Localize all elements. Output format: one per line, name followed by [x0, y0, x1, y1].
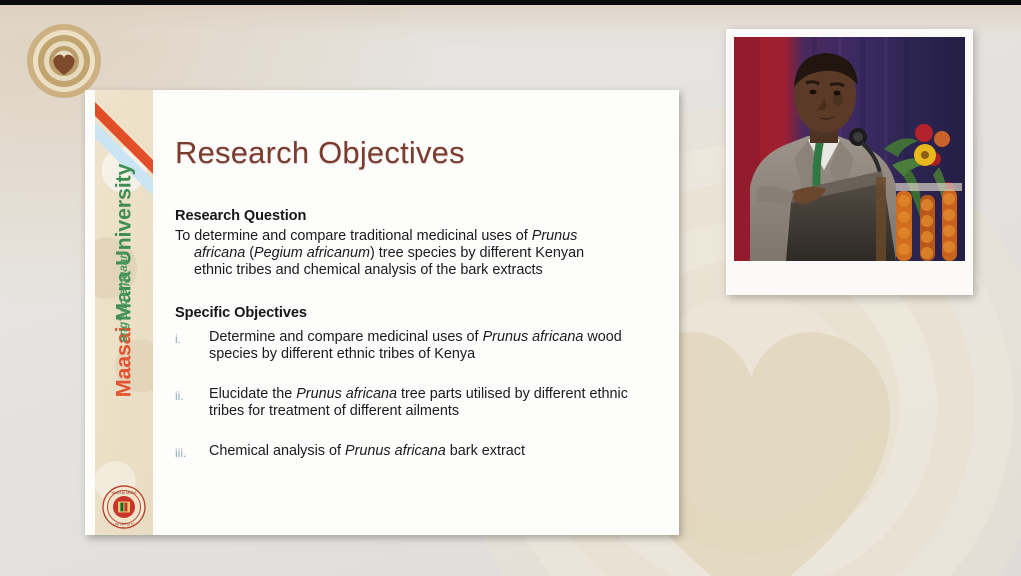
sidebar-tagline: eng'eno e puaan	[95, 90, 153, 470]
list-item-text: Elucidate the Prunus africana tree parts…	[209, 386, 645, 420]
rq-line2-italic-a: africana	[194, 245, 245, 261]
obj3-text-b: bark extract	[446, 443, 525, 459]
list-item-marker: ii.	[175, 386, 209, 420]
rq-line2-end: ) tree species by different Kenyan	[370, 245, 584, 261]
specific-objectives-block: Specific Objectives i. Determine and com…	[175, 305, 645, 483]
obj3-text-italic: Prunus africana	[345, 443, 446, 459]
obj2-text-a: Elucidate the	[209, 386, 296, 402]
slide-branding-sidebar: Maasai Mara University eng'eno e puaan M…	[95, 90, 153, 535]
rq-line2-italic-b: Pegium africanum	[254, 245, 370, 261]
objectives-list: i. Determine and compare medicinal uses …	[175, 329, 645, 460]
slide-title: Research Objectives	[175, 135, 465, 171]
university-seal-icon: MAASAI MARA UNIVERSITY	[102, 485, 146, 529]
research-question-block: Research Question To determine and compa…	[175, 208, 635, 279]
specific-objectives-heading: Specific Objectives	[175, 305, 645, 321]
sidebar-tagline-text: eng'eno e puaan	[118, 147, 130, 447]
list-item: i. Determine and compare medicinal uses …	[175, 329, 645, 363]
svg-text:MAASAI MARA: MAASAI MARA	[112, 491, 138, 495]
list-item-marker: iii.	[175, 443, 209, 460]
concentric-heart-target-logo	[25, 22, 103, 100]
speaker-photo	[734, 37, 965, 261]
list-item-marker: i.	[175, 329, 209, 363]
obj1-text-italic: Prunus africana	[483, 329, 584, 345]
presentation-view: Maasai Mara University eng'eno e puaan M…	[0, 0, 1021, 576]
rq-line3: ethnic tribes and chemical analysis of t…	[175, 262, 635, 279]
speaker-video-thumbnail[interactable]	[726, 29, 973, 295]
list-item-text: Chemical analysis of Prunus africana bar…	[209, 443, 645, 460]
svg-text:UNIVERSITY: UNIVERSITY	[113, 523, 135, 527]
slide-content: Research Objectives Research Question To…	[175, 90, 675, 535]
rq-line2-mid: (	[245, 245, 254, 261]
obj2-text-italic: Prunus africana	[296, 386, 397, 402]
obj1-text-a: Determine and compare medicinal uses of	[209, 329, 483, 345]
list-item: iii. Chemical analysis of Prunus african…	[175, 443, 645, 460]
rq-line1-italic: Prunus	[532, 228, 578, 244]
top-black-bar	[0, 0, 1021, 5]
research-question-body: To determine and compare traditional med…	[175, 228, 635, 279]
rq-line1: To determine and compare traditional med…	[175, 228, 532, 244]
slide[interactable]: Maasai Mara University eng'eno e puaan M…	[85, 90, 679, 535]
list-item: ii. Elucidate the Prunus africana tree p…	[175, 386, 645, 420]
obj3-text-a: Chemical analysis of	[209, 443, 345, 459]
research-question-heading: Research Question	[175, 208, 635, 224]
list-item-text: Determine and compare medicinal uses of …	[209, 329, 645, 363]
